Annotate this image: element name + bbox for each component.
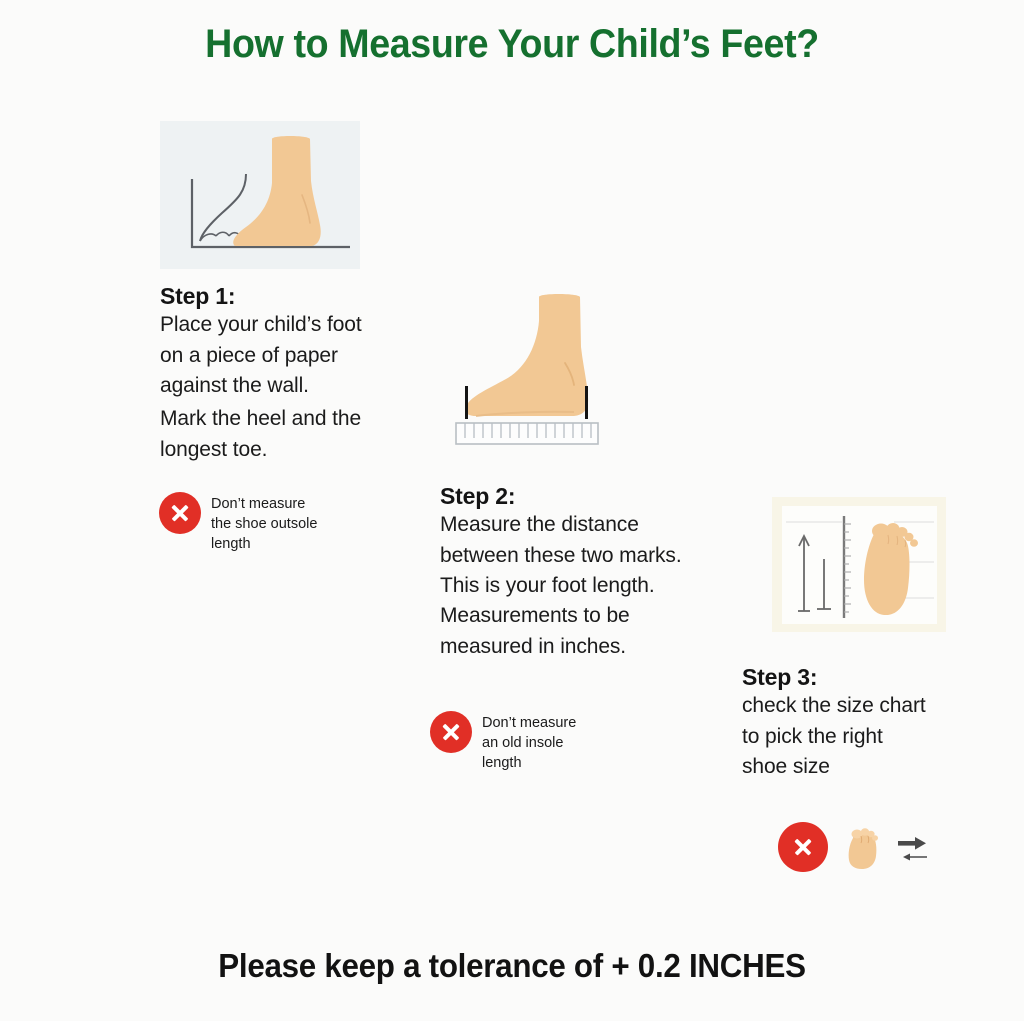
side-foot-on-ruler-icon xyxy=(430,285,640,455)
step-2-text-block: Step 2: Measure the distance between the… xyxy=(440,483,740,662)
step-3-inner-panel xyxy=(782,506,937,624)
red-x-circle-icon xyxy=(778,822,828,872)
red-x-circle-icon xyxy=(430,711,472,753)
step-2-warning-text: Don’t measure an old insole length xyxy=(482,711,576,773)
step-1-illustration-card xyxy=(160,121,360,269)
heel-mark xyxy=(585,386,588,419)
toe-mark xyxy=(465,386,468,419)
step-1-heading: Step 1: xyxy=(160,283,380,310)
step-3-warning xyxy=(778,822,930,872)
step-3-illustration-card xyxy=(772,497,946,632)
foot-sole-shape xyxy=(864,529,910,615)
step-3-text-block: Step 3: check the size chart to pick the… xyxy=(742,664,972,782)
size-direction-arrows-icon xyxy=(896,829,930,869)
mini-foot-sole-icon xyxy=(842,824,882,870)
step-1-body: Place your child’s foot on a piece of pa… xyxy=(160,310,380,465)
step-2-body: Measure the distance between these two m… xyxy=(440,510,740,662)
step-3-heading: Step 3: xyxy=(742,664,972,691)
arrow-left-icon xyxy=(903,854,927,861)
step-1-paragraph-2: Mark the heel and the longest toe. xyxy=(160,404,380,465)
step-1-paragraph-1: Place your child’s foot on a piece of pa… xyxy=(160,310,380,401)
step-2-paragraph-1: Measure the distance between these two m… xyxy=(440,510,740,662)
red-x-circle-icon xyxy=(159,492,201,534)
step-3-paragraph-1: check the size chart to pick the right s… xyxy=(742,691,972,782)
step-1-warning-text: Don’t measure the shoe outsole length xyxy=(211,492,317,554)
foot-sole-with-scale-icon xyxy=(782,506,938,625)
page-title: How to Measure Your Child’s Feet? xyxy=(31,22,994,67)
step-2-warning: Don’t measure an old insole length xyxy=(430,711,576,773)
tolerance-note: Please keep a tolerance of + 0.2 INCHES xyxy=(26,947,999,985)
step-1-text-block: Step 1: Place your child’s foot on a pie… xyxy=(160,283,380,465)
side-foot-against-wall-icon xyxy=(160,121,360,269)
long-measure-arrow xyxy=(798,536,810,611)
arrow-right-icon xyxy=(898,837,926,850)
chart-rules xyxy=(786,522,934,598)
infographic-canvas: How to Measure Your Child’s Feet? Step 1… xyxy=(0,0,1024,1021)
step-1-warning: Don’t measure the shoe outsole length xyxy=(159,492,317,554)
step-2-heading: Step 2: xyxy=(440,483,740,510)
step-3-body: check the size chart to pick the right s… xyxy=(742,691,972,782)
short-measure-line xyxy=(817,559,831,609)
step-2-illustration-card xyxy=(430,285,640,455)
ruler-body xyxy=(456,423,598,444)
